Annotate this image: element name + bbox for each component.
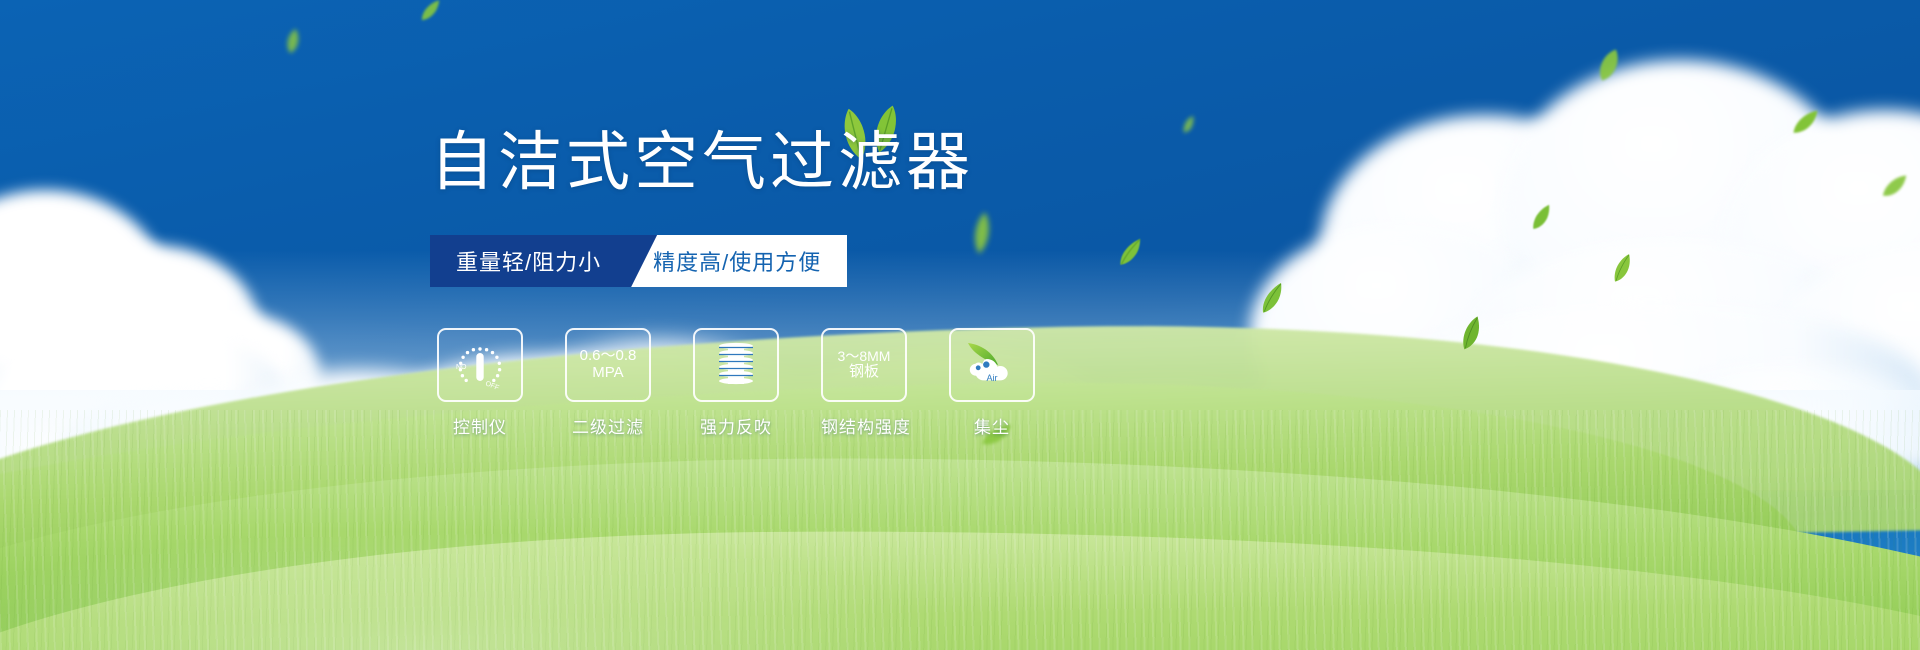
gauge-icon: NO OFF [452, 339, 508, 391]
pressure-unit-text: MPA [592, 365, 623, 382]
svg-text:OFF: OFF [484, 380, 500, 391]
feature-caption: 钢结构强度 [821, 413, 907, 438]
feature-icon-box: NO OFF [437, 328, 523, 402]
feature-caption: 二级过滤 [565, 413, 651, 438]
svg-text:Air: Air [987, 373, 998, 383]
feature-item-controller[interactable]: NO OFF 控制仪 [437, 328, 523, 438]
feature-item-dust-collection[interactable]: Air 集尘 [949, 328, 1035, 438]
svg-text:NO: NO [456, 364, 467, 371]
air-cloud-icon: Air [964, 339, 1020, 391]
feature-item-steel-strength[interactable]: 3～8MM 钢板 钢结构强度 [821, 328, 907, 438]
feature-icon-box: 0.6～0.8 MPA [565, 328, 651, 402]
feature-icon-box [693, 328, 779, 402]
badge-precision-ease[interactable]: 精度高/使用方便 [631, 235, 847, 287]
feature-caption: 强力反吹 [693, 413, 779, 438]
badge-weight-resistance[interactable]: 重量轻/阻力小 [430, 235, 657, 287]
feature-icon-box: 3～8MM 钢板 [821, 328, 907, 402]
feature-item-two-stage-filter[interactable]: 0.6～0.8 MPA 二级过滤 [565, 328, 651, 438]
pressure-value-text: 0.6～0.8 [580, 348, 637, 365]
feature-icon-row: NO OFF 控制仪 0.6～0.8 MPA 二级过滤 [437, 328, 1035, 438]
page-title: 自洁式空气过滤器 [430, 130, 974, 194]
feature-badges: 重量轻/阻力小 精度高/使用方便 [430, 235, 847, 287]
steel-plate-text: 钢板 [849, 364, 879, 381]
coil-filter-icon [708, 339, 764, 391]
feature-caption: 控制仪 [437, 413, 523, 438]
hero-banner: 自洁式空气过滤器 重量轻/阻力小 精度高/使用方便 [0, 0, 1920, 650]
feature-icon-box: Air [949, 328, 1035, 402]
feature-item-back-blow[interactable]: 强力反吹 [693, 328, 779, 438]
feature-caption: 集尘 [949, 413, 1035, 438]
banner-content: 自洁式空气过滤器 重量轻/阻力小 精度高/使用方便 [0, 0, 1920, 650]
